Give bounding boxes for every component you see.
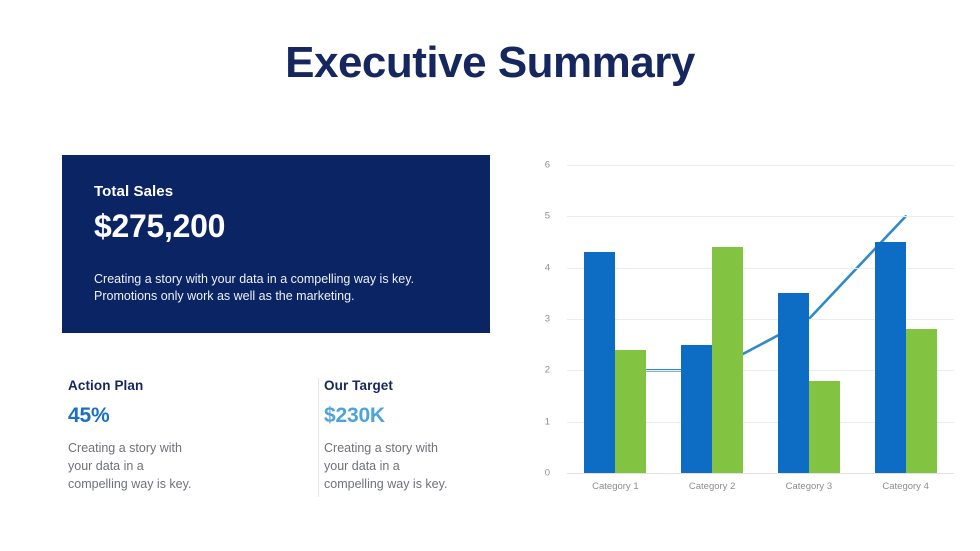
chart-gridline: [567, 216, 954, 217]
chart-y-tick-label: 5: [526, 211, 550, 222]
kpi-description-line-2: Promotions only work as well as the mark…: [94, 288, 458, 305]
total-sales-card: Total Sales $275,200 Creating a story wi…: [62, 155, 490, 333]
chart-x-tick-label: Category 3: [786, 481, 832, 492]
stat-value: $230K: [324, 404, 519, 428]
chart-bar: [906, 329, 937, 473]
chart-line-path: [615, 216, 905, 370]
stat-description-line-3: compelling way is key.: [324, 475, 519, 493]
stat-value: 45%: [68, 404, 263, 428]
chart-bar: [875, 242, 906, 473]
chart-x-tick-label: Category 1: [592, 481, 638, 492]
page-title: Executive Summary: [0, 38, 980, 88]
chart-y-tick-label: 2: [526, 365, 550, 376]
stat-action-plan: Action Plan 45% Creating a story with yo…: [68, 378, 263, 493]
chart-bar: [584, 252, 615, 473]
stat-title: Action Plan: [68, 378, 263, 393]
kpi-value: $275,200: [94, 208, 458, 245]
stat-description-line-2: your data in a: [68, 457, 263, 475]
chart-x-axis-labels: Category 1Category 2Category 3Category 4: [567, 481, 954, 501]
chart-bar: [778, 293, 809, 473]
stat-our-target: Our Target $230K Creating a story with y…: [324, 378, 519, 493]
chart-x-tick-label: Category 2: [689, 481, 735, 492]
stat-title: Our Target: [324, 378, 519, 393]
kpi-label: Total Sales: [94, 183, 458, 200]
stat-blocks: Action Plan 45% Creating a story with yo…: [62, 378, 492, 498]
chart-x-tick-label: Category 4: [882, 481, 928, 492]
stat-divider: [318, 378, 319, 497]
stat-description: Creating a story with your data in a com…: [324, 439, 519, 493]
chart-bar: [615, 350, 646, 473]
stat-description-line-1: Creating a story with: [324, 439, 519, 457]
stat-description-line-2: your data in a: [324, 457, 519, 475]
stat-description: Creating a story with your data in a com…: [68, 439, 263, 493]
chart-y-tick-label: 6: [526, 160, 550, 171]
stat-description-line-3: compelling way is key.: [68, 475, 263, 493]
slide-root: Executive Summary Total Sales $275,200 C…: [0, 0, 980, 551]
summary-chart: 0123456 Category 1Category 2Category 3Ca…: [537, 155, 967, 500]
chart-bar: [809, 381, 840, 473]
chart-plot-area: 0123456: [567, 165, 954, 473]
stat-description-line-1: Creating a story with: [68, 439, 263, 457]
chart-y-tick-label: 0: [526, 468, 550, 479]
chart-bar: [712, 247, 743, 473]
kpi-description: Creating a story with your data in a com…: [94, 271, 458, 305]
chart-y-tick-label: 3: [526, 314, 550, 325]
chart-y-tick-label: 1: [526, 416, 550, 427]
chart-y-tick-label: 4: [526, 262, 550, 273]
chart-gridline: [567, 165, 954, 166]
kpi-description-line-1: Creating a story with your data in a com…: [94, 271, 458, 288]
chart-bar: [681, 345, 712, 473]
chart-gridline: [567, 473, 954, 474]
